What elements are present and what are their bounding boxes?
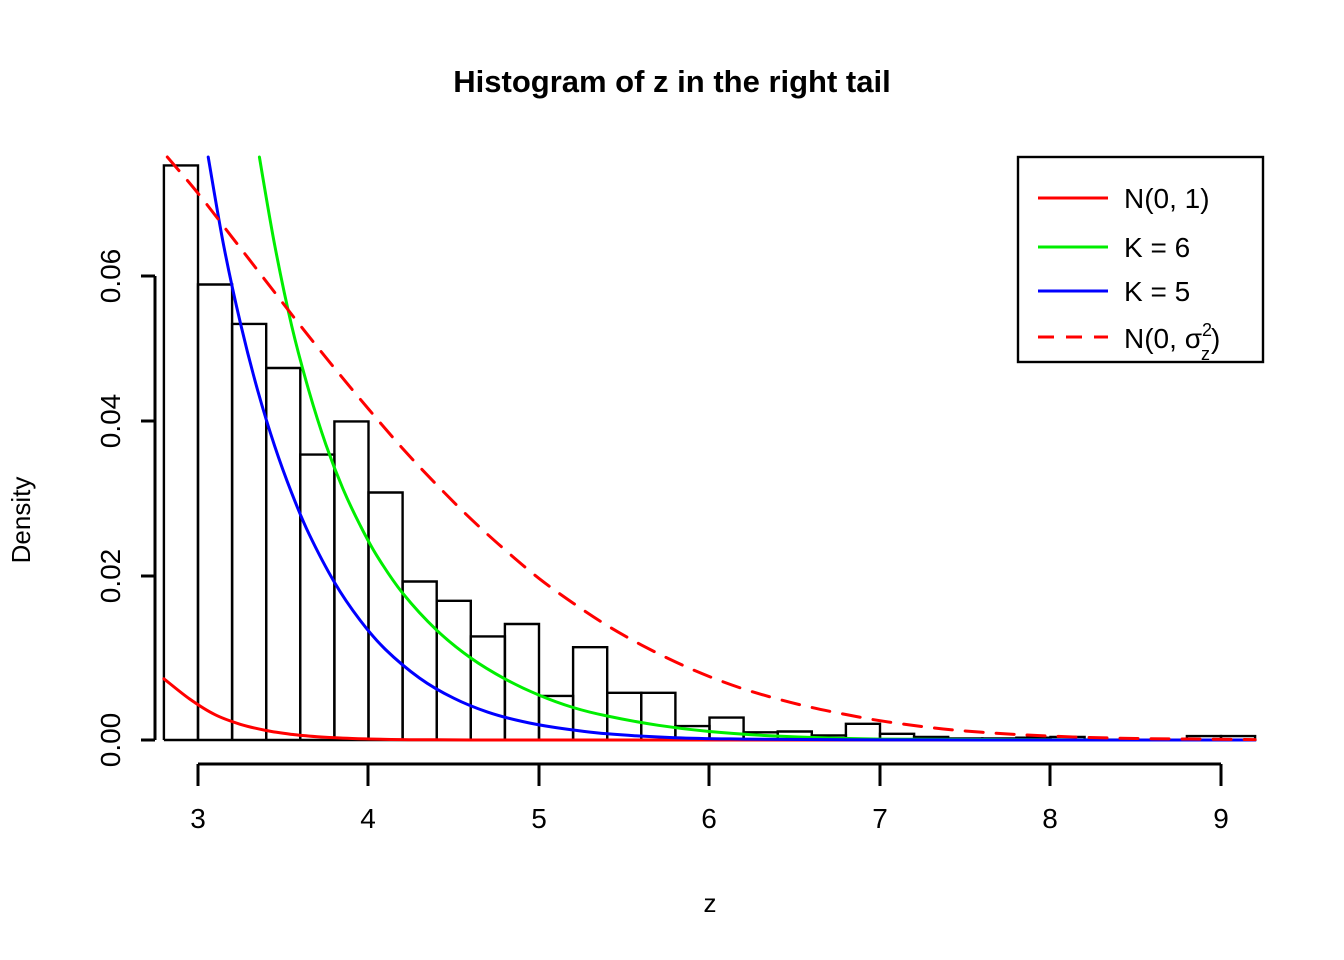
legend-sigma-subscript: z bbox=[1201, 344, 1210, 364]
x-axis-title: z bbox=[704, 888, 717, 918]
x-axis: 3 4 5 6 7 8 9 bbox=[190, 764, 1229, 834]
histogram-bar bbox=[641, 693, 675, 740]
x-tick-label-3: 3 bbox=[190, 803, 206, 834]
legend-label-k6: K = 6 bbox=[1124, 232, 1190, 263]
x-tick-label-7: 7 bbox=[872, 803, 888, 834]
histogram-bar bbox=[471, 636, 505, 740]
histogram-bar bbox=[266, 368, 300, 740]
legend-label-k5: K = 5 bbox=[1124, 276, 1190, 307]
histogram-bar bbox=[198, 285, 232, 741]
x-tick-label-5: 5 bbox=[531, 803, 547, 834]
histogram-plot: Histogram of z in the right tail Density… bbox=[0, 0, 1344, 960]
histogram-bar bbox=[164, 165, 198, 740]
y-axis: 0.06 0.04 0.02 0.00 bbox=[95, 249, 155, 768]
histogram-bar bbox=[573, 647, 607, 740]
histogram-bar bbox=[437, 601, 471, 740]
page-title: Histogram of z in the right tail bbox=[453, 64, 890, 99]
sigma-icon: σ bbox=[1185, 323, 1202, 354]
legend: N(0, 1) K = 6 K = 5 N(0, σ2z) bbox=[1018, 157, 1263, 364]
legend-sigma-suffix: ) bbox=[1211, 323, 1220, 354]
histogram-bar bbox=[710, 718, 744, 740]
chart-container: Histogram of z in the right tail Density… bbox=[0, 0, 1344, 960]
legend-sigma-prefix: N(0, bbox=[1124, 323, 1185, 354]
y-tick-label-0.02: 0.02 bbox=[95, 549, 126, 604]
histogram-bar bbox=[300, 455, 334, 740]
x-tick-label-6: 6 bbox=[701, 803, 717, 834]
histogram-bar bbox=[403, 582, 437, 741]
histogram-bar bbox=[232, 324, 266, 740]
x-tick-label-9: 9 bbox=[1213, 803, 1229, 834]
y-tick-label-0.04: 0.04 bbox=[95, 394, 126, 449]
x-tick-label-8: 8 bbox=[1042, 803, 1058, 834]
y-tick-label-0.06: 0.06 bbox=[95, 249, 126, 304]
x-tick-label-4: 4 bbox=[360, 803, 376, 834]
histogram-bar bbox=[334, 421, 368, 740]
y-tick-label-0.00: 0.00 bbox=[95, 713, 126, 768]
histogram-bar bbox=[369, 493, 403, 741]
legend-label-n01: N(0, 1) bbox=[1124, 183, 1210, 214]
y-axis-title: Density bbox=[6, 477, 36, 564]
